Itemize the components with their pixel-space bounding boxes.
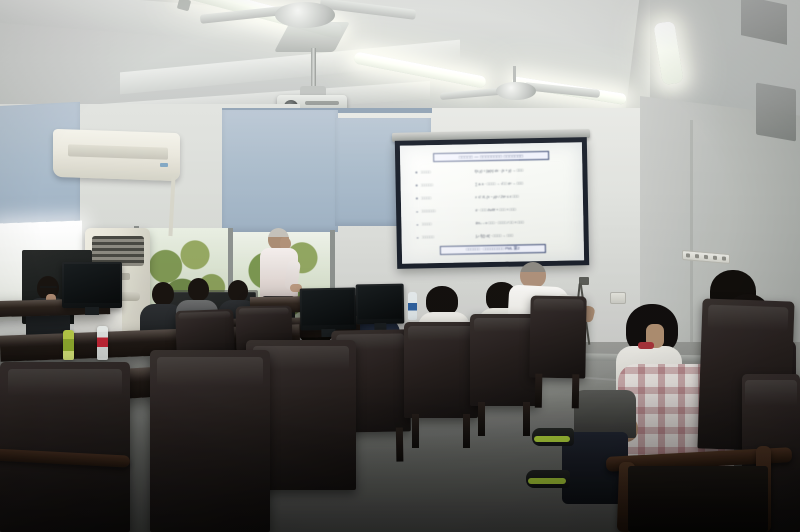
outlet-slot [713, 256, 717, 260]
slide-body: □□□□□ f(x,y) = ∫φ(x) dx · (x + y) → □□□ … [411, 163, 573, 245]
sneaker-accent [528, 478, 566, 484]
window-blind[interactable] [222, 110, 338, 232]
slide-row-formula: ∫₀¹ f̂(ξ) dξ · □□□□ → □□□ [476, 233, 569, 239]
sneaker-accent [534, 436, 570, 442]
bullet-icon [417, 237, 419, 239]
bullet-icon [416, 185, 418, 187]
slide-row-formula: α · □□□ ∂u/∂t + □□□ = □□□ [475, 207, 568, 213]
beverage-bottle [63, 330, 74, 360]
gray-torso [574, 390, 636, 438]
slide-footer: □□□□□□ · □□□□□□□□□ PML 第2 [440, 244, 546, 255]
classroom-photo: □□□□□ — □□□□□□□□ □□□□□□□ □□□□□ f(x,y) = … [0, 0, 800, 532]
water-bottle [97, 326, 108, 360]
man-head [520, 262, 546, 288]
slide-row-formula: f(x,y) = ∫φ(x) dx · (x + y) → □□□ [475, 167, 568, 173]
slide-bullet-row: □□□□□□ ∫₀¹ f̂(ξ) dξ · □□□□ → □□□ [417, 233, 569, 240]
bullet-icon [416, 224, 418, 226]
slide-bullet-row: □□□□□ f(x,y) = ∫φ(x) dx · (x + y) → □□□ [415, 167, 567, 174]
slide-bullet-row: □□□□□ limₙ→∞ □□□ · □□□□ / □□ = □□□ [416, 220, 568, 227]
outlet-slot [704, 255, 708, 259]
ceiling-fan-icon [496, 82, 536, 100]
slide-bullet-row: □□□□□□□ α · □□□ ∂u/∂t + □□□ = □□□ [416, 207, 568, 214]
student-head [188, 278, 209, 301]
water-bottle [408, 292, 417, 320]
slide-row-label: □□□□□ [420, 169, 472, 174]
desktop-monitor [356, 284, 405, 325]
desktop-monitor [300, 288, 357, 331]
bullet-icon [415, 171, 417, 173]
bullet-icon [416, 198, 418, 200]
slide-row-label: □□□□□ [421, 222, 473, 227]
chair[interactable] [150, 350, 270, 532]
chair[interactable] [404, 322, 478, 418]
projection-screen-surface: □□□□□ — □□□□□□□□ □□□□□□□ □□□□□ f(x,y) = … [400, 142, 584, 263]
slide-bullet-row: □□□□□□ ∑ aᵢ xᵢ · □□□□ → √□□ σ² → □□□ [416, 180, 568, 187]
slide-row-label: □□□□□□ [420, 182, 472, 187]
slide-row-formula: x ∈ ℝ, (x − μ)² / 2σ² ≤ ε □□□ [475, 193, 568, 199]
projector-vent [305, 101, 339, 105]
ceiling-fan-icon [275, 2, 335, 28]
slide-row-label: □□□□□□ [421, 235, 473, 240]
projection-screen[interactable]: □□□□□ — □□□□□□□□ □□□□□□□ □□□□□ f(x,y) = … [395, 137, 589, 269]
bullet-icon [416, 211, 418, 213]
chair-seat [628, 466, 768, 532]
outlet-slot [686, 253, 690, 257]
slide-row-formula: ∑ aᵢ xᵢ · □□□□ → √□□ σ² → □□□ [475, 180, 568, 186]
presentation-slide: □□□□□ — □□□□□□□□ □□□□□□□ □□□□□ f(x,y) = … [411, 151, 573, 256]
projector-mount-pole [311, 48, 316, 90]
chair[interactable] [529, 296, 586, 379]
slide-row-formula: limₙ→∞ □□□ · □□□□ / □□ = □□□ [476, 220, 569, 226]
wall-unit-icon [756, 82, 796, 141]
slide-title: □□□□□ — □□□□□□□□ □□□□□□□ [433, 151, 548, 162]
student-head [152, 282, 174, 306]
outlet-slot [695, 254, 699, 258]
air-conditioner-indicator [160, 163, 168, 167]
student-glasses-icon [40, 286, 57, 290]
slide-row-label: □□□□□□□ [421, 208, 473, 213]
wristband [638, 342, 654, 349]
slide-bullet-row: □□□□□ x ∈ ℝ, (x − μ)² / 2σ² ≤ ε □□□ [416, 193, 568, 200]
outlet-slot [722, 256, 726, 260]
chair[interactable] [0, 362, 130, 532]
student-head [228, 280, 248, 302]
chair[interactable] [470, 314, 538, 406]
desktop-monitor [62, 262, 122, 308]
slide-row-label: □□□□□ [420, 195, 472, 200]
